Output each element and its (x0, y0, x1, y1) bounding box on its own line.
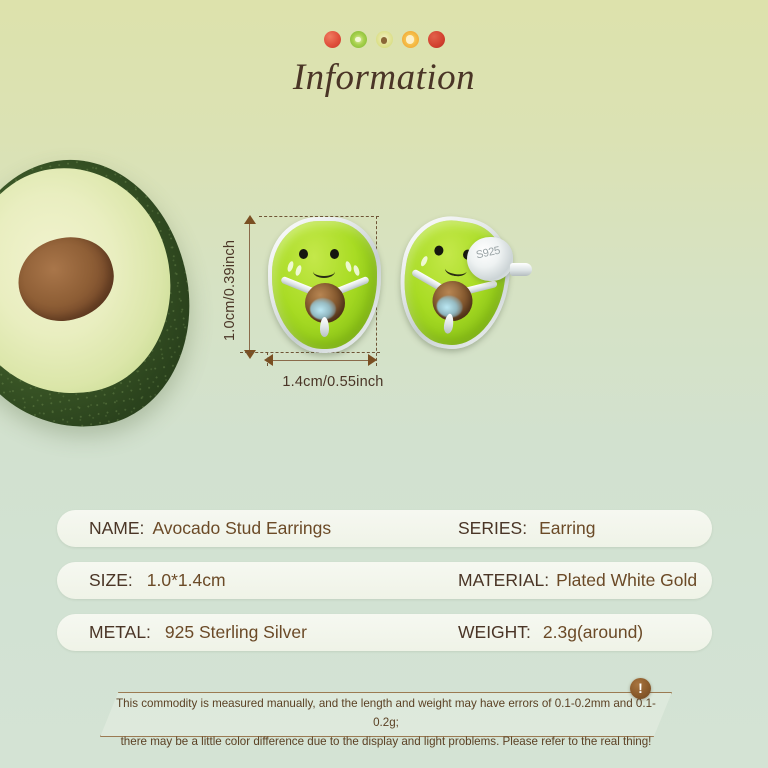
highlight-right (344, 260, 352, 272)
spec-value-material: Plated White Gold (556, 570, 697, 591)
spec-label-series: SERIES: (458, 518, 527, 539)
cherry-icon (428, 31, 445, 48)
silver-stamp: S925 (475, 245, 501, 262)
mouth-icon-2 (444, 262, 468, 278)
spec-label-metal: METAL: (89, 622, 151, 643)
exclamation-icon: ! (630, 678, 651, 699)
spec-cell-name: NAME: Avocado Stud Earrings (89, 510, 331, 547)
red-berry-icon (324, 31, 341, 48)
highlight-left-2 (420, 255, 429, 267)
spec-label-material: MATERIAL: (458, 570, 549, 591)
earring-left (272, 221, 377, 349)
spec-value-name: Avocado Stud Earrings (152, 518, 331, 539)
spec-cell-series: SERIES: Earring (458, 510, 595, 547)
table-row: SIZE: 1.0*1.4cm MATERIAL: Plated White G… (57, 562, 712, 599)
avocado-photo (0, 160, 188, 428)
spec-label-size: SIZE: (89, 570, 133, 591)
spec-cell-size: SIZE: 1.0*1.4cm (89, 562, 226, 599)
spec-value-size: 1.0*1.4cm (147, 570, 226, 591)
spec-label-name: NAME: (89, 518, 144, 539)
silver-drop (320, 317, 329, 337)
eye-right-icon (330, 249, 339, 259)
kiwi-icon (350, 31, 367, 48)
orange-slice-icon (402, 31, 419, 48)
spec-cell-material: MATERIAL: Plated White Gold (458, 562, 697, 599)
earring-right (396, 215, 512, 352)
spec-label-weight: WEIGHT: (458, 622, 531, 643)
disclaimer-line-2: there may be a little color difference d… (108, 732, 664, 751)
disclaimer-line-1: This commodity is measured manually, and… (108, 694, 664, 732)
spec-cell-weight: WEIGHT: 2.3g(around) (458, 614, 643, 651)
fruit-icon-row (0, 31, 768, 48)
earring-product-image: S925 (222, 205, 562, 405)
page-title: Information (0, 56, 768, 99)
highlight-left2 (294, 264, 302, 276)
spec-value-series: Earring (539, 518, 595, 539)
mouth-icon (313, 265, 335, 278)
disclaimer-text: This commodity is measured manually, and… (108, 694, 664, 751)
table-row: METAL: 925 Sterling Silver WEIGHT: 2.3g(… (57, 614, 712, 651)
spec-value-metal: 925 Sterling Silver (165, 622, 307, 643)
highlight-right2 (352, 264, 360, 276)
table-row: NAME: Avocado Stud Earrings SERIES: Earr… (57, 510, 712, 547)
eye-left-icon-2 (434, 245, 444, 256)
highlight-left (286, 260, 294, 272)
spec-value-weight: 2.3g(around) (543, 622, 643, 643)
avocado-icon (376, 31, 393, 48)
product-info-page: Information 1.0cm/0.39inch 1.4cm/0.55inc… (0, 0, 768, 768)
eye-left-icon (299, 249, 308, 259)
spec-cell-metal: METAL: 925 Sterling Silver (89, 614, 307, 651)
butterfly-tip (510, 263, 532, 276)
earring-butterfly-back: S925 (467, 237, 513, 281)
